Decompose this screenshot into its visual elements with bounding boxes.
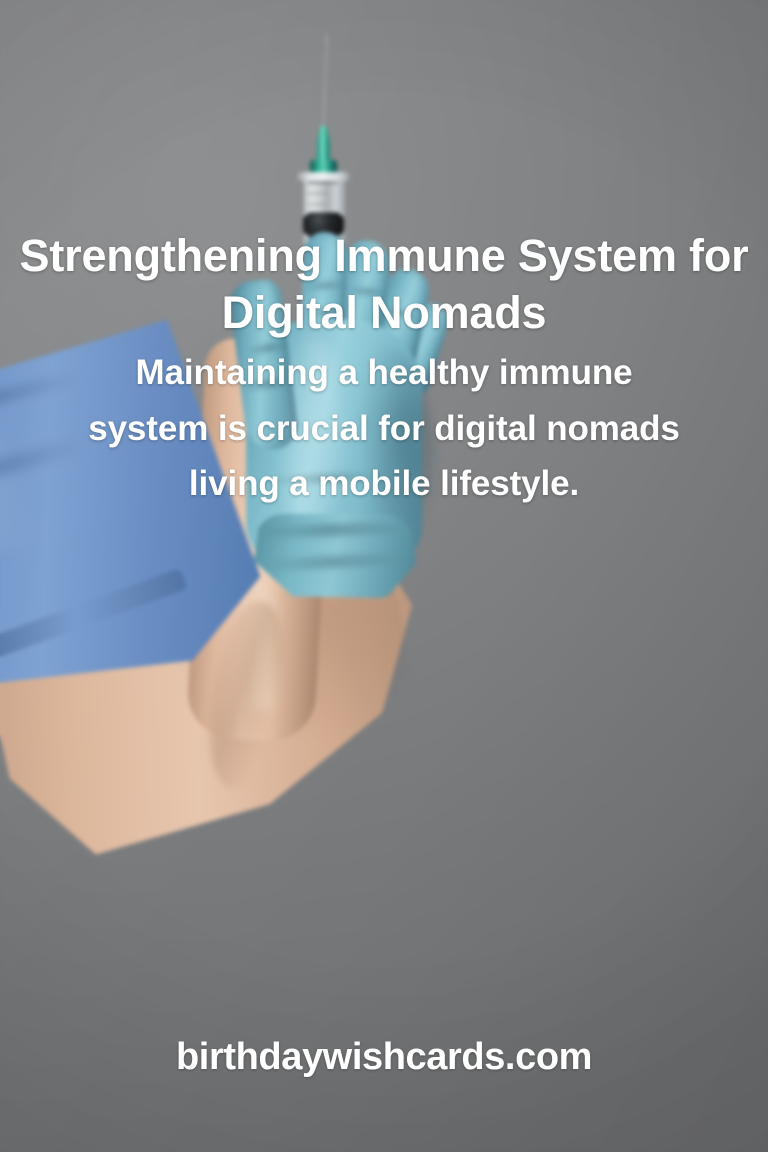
site-watermark: birthdaywishcards.com bbox=[0, 1036, 768, 1079]
text-overlay: Strengthening Immune System for Digital … bbox=[0, 0, 768, 1152]
text-block: Strengthening Immune System for Digital … bbox=[0, 228, 768, 511]
headline: Strengthening Immune System for Digital … bbox=[14, 228, 754, 341]
subheadline: Maintaining a healthy immune system is c… bbox=[14, 345, 754, 511]
pinterest-pin-card: Strengthening Immune System for Digital … bbox=[0, 0, 768, 1152]
